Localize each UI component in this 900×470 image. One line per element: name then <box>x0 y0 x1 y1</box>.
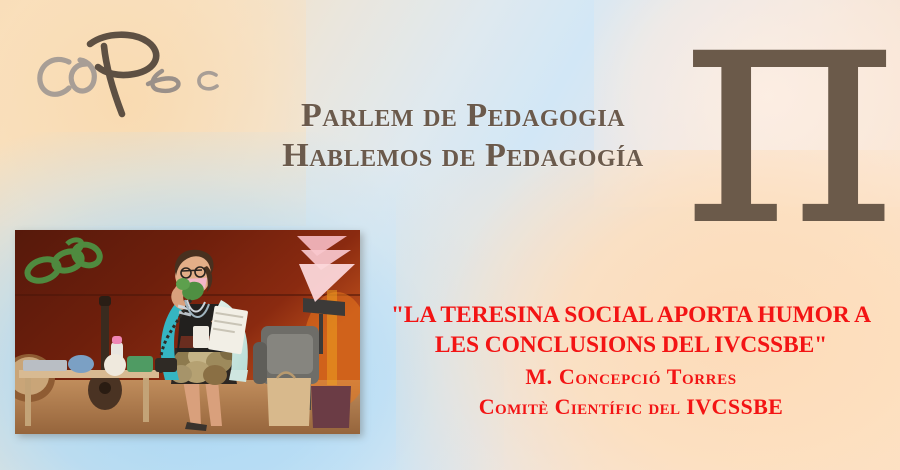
speaker-organization: Comitè Científic del IVCSSBE <box>366 393 896 421</box>
title-line-spanish: Hablemos de Pedagogía <box>228 136 698 176</box>
page-title: Parlem de Pedagogia Hablemos de Pedagogí… <box>228 96 698 176</box>
title-line-catalan: Parlem de Pedagogia <box>228 96 698 136</box>
quote-line-2: LES CONCLUSIONS DEL IVCSSBE" <box>366 330 896 360</box>
stage-photo-image <box>15 230 360 434</box>
caption-block: "LA TERESINA SOCIAL APORTA HUMOR A LES C… <box>366 300 896 421</box>
quote-line-1: "LA TERESINA SOCIAL APORTA HUMOR A <box>366 300 896 330</box>
pi-icon: π <box>681 0 898 272</box>
speaker-name: M. Concepció Torres <box>366 363 896 391</box>
poster-root: π Parlem de Pedagogia Hablemos de Pedago… <box>0 0 900 470</box>
copec-logo <box>22 26 252 118</box>
stage-photo <box>15 230 360 434</box>
